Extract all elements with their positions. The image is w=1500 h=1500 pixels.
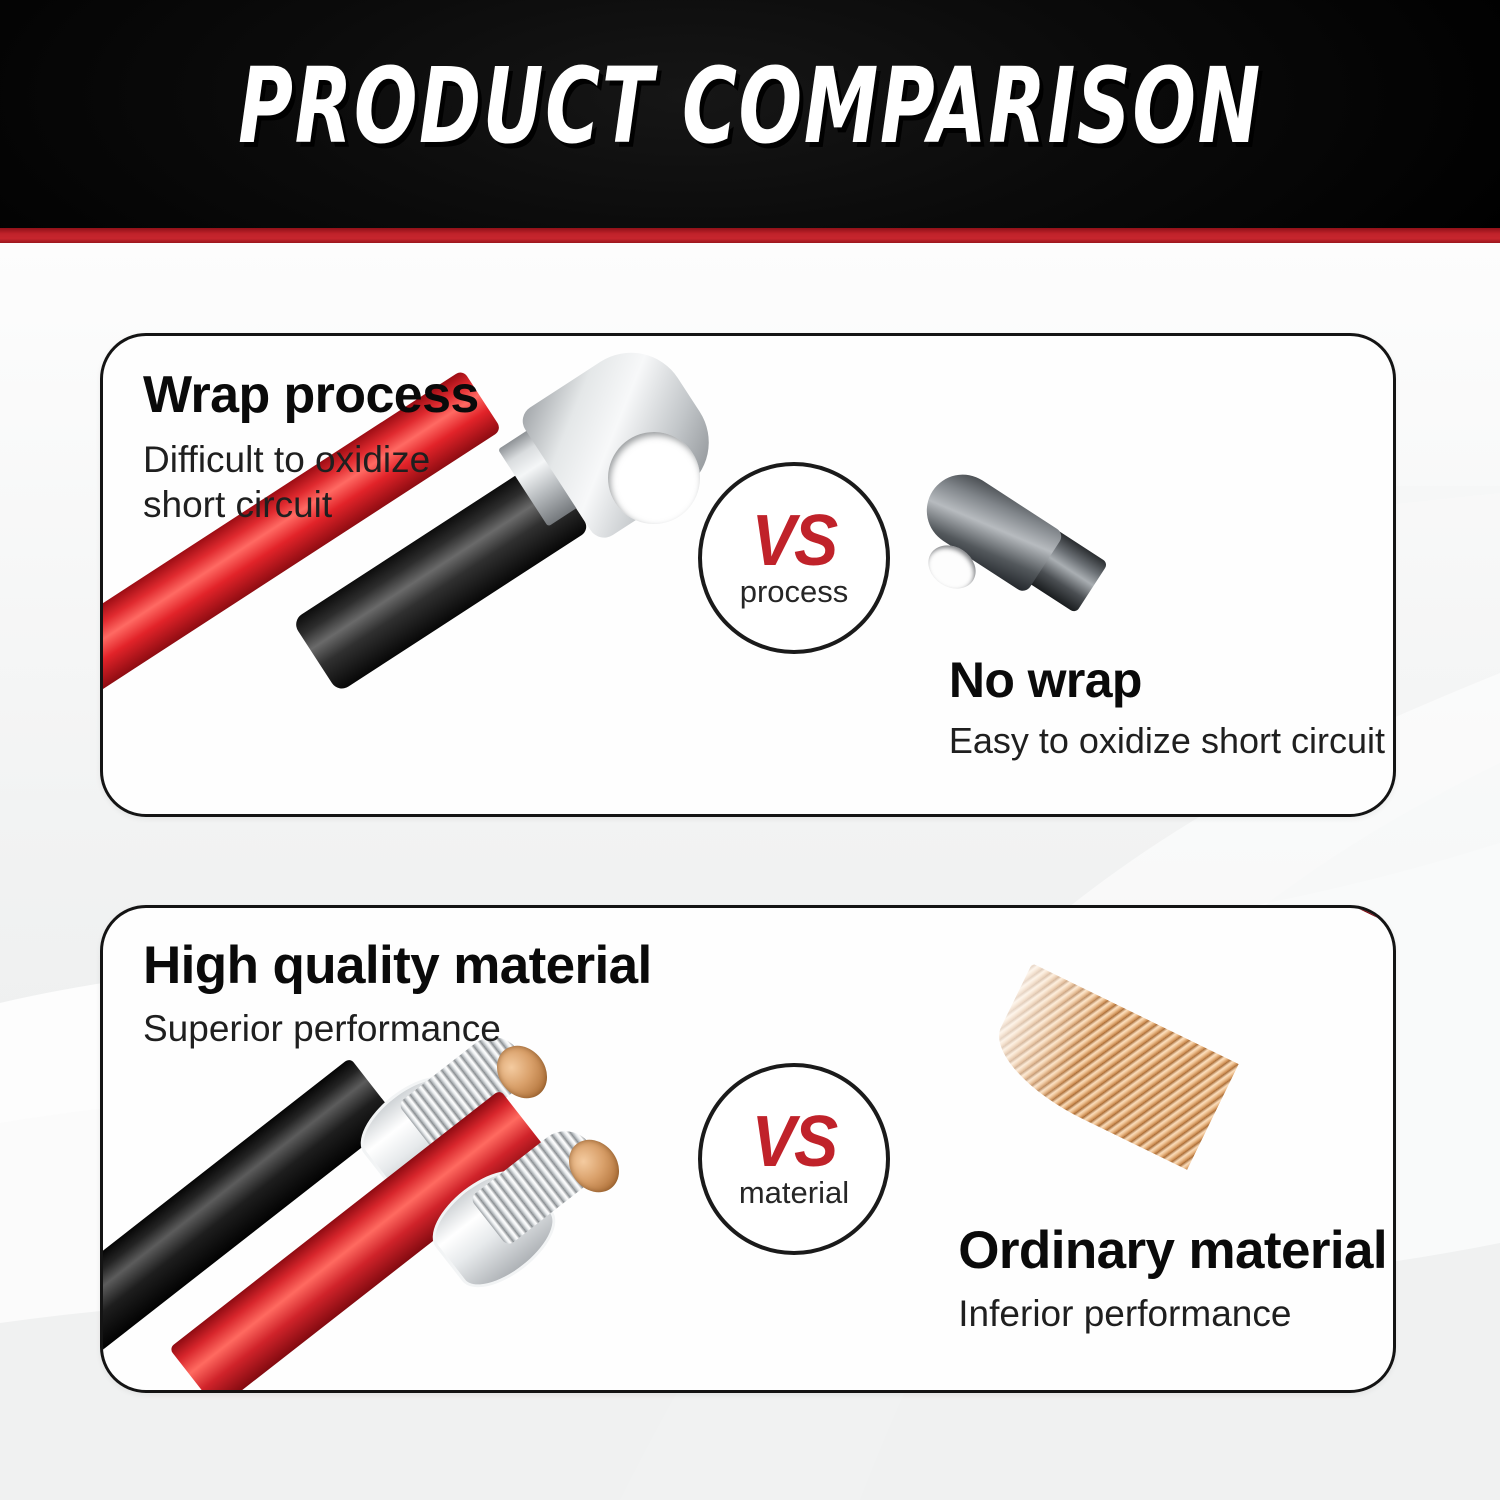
panel-1-good-text-block: Wrap process Difficult to oxidize short … (143, 368, 479, 527)
header-accent-stripe (0, 228, 1500, 243)
panel-2-bad-subtitle: Inferior performance (958, 1291, 1387, 1336)
header-banner: PRODUCT COMPARISON (0, 0, 1500, 228)
panel-1-good-subtitle-line-1: Difficult to oxidize (143, 437, 479, 482)
panel-2-bad-title: Ordinary material (958, 1223, 1387, 1279)
product-comparison-infographic: { "header": { "title": "PRODUCT COMPARIS… (0, 0, 1500, 1500)
panel-2-bad-text-block: Ordinary material Inferior performance (958, 1223, 1387, 1336)
panel-1-good-subtitle: Difficult to oxidize short circuit (143, 437, 479, 527)
panel-1-good-subtitle-line-2: short circuit (143, 482, 479, 527)
vs-label: VS (752, 509, 837, 574)
frayed-bare-copper-strands (980, 963, 1238, 1170)
vs-badge-process: VS process (698, 462, 890, 654)
vs-badge-material: VS material (698, 1063, 890, 1255)
ordinary-cable-red-jacket (1040, 905, 1396, 959)
panel-2-good-subtitle: Superior performance (143, 1006, 652, 1051)
vs-label: VS (752, 1110, 837, 1175)
panel-2-good-title: High quality material (143, 938, 652, 994)
panel-1-bad-title: No wrap (949, 654, 1385, 707)
panel-1-bad-text-block: No wrap Easy to oxidize short circuit (949, 654, 1385, 762)
page-title: PRODUCT COMPARISON (150, 52, 1350, 161)
panel-2-good-text-block: High quality material Superior performan… (143, 938, 652, 1051)
panel-1-bad-subtitle: Easy to oxidize short circuit (949, 719, 1385, 763)
panel-1-good-title: Wrap process (143, 368, 479, 423)
